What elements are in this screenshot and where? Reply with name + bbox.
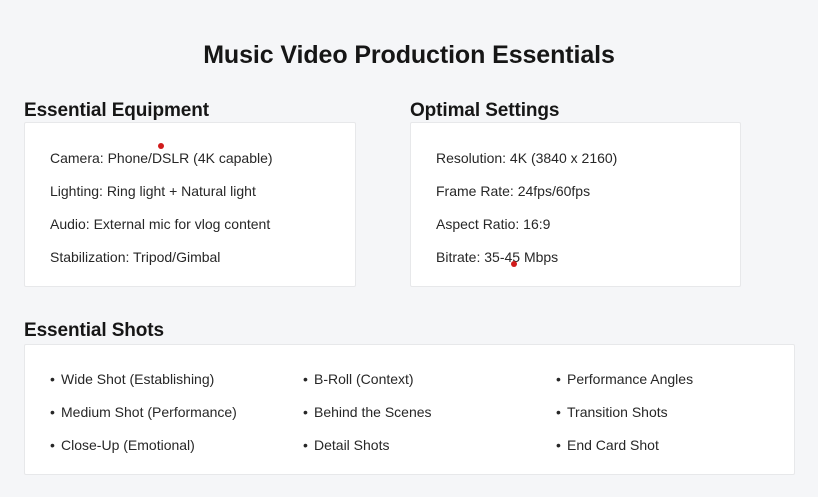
list-item: Audio: External mic for vlog content: [50, 208, 273, 241]
shots-column-1: •Wide Shot (Establishing) •Medium Shot (…: [50, 363, 237, 462]
shots-column-3: •Performance Angles •Transition Shots •E…: [556, 363, 693, 462]
list-item-label: Transition Shots: [567, 404, 668, 420]
shots-grid: •Wide Shot (Establishing) •Medium Shot (…: [25, 363, 796, 463]
list-item-label: Close-Up (Emotional): [61, 437, 195, 453]
card-equipment: Camera: Phone/DSLR (4K capable) Lighting…: [24, 122, 356, 287]
list-item: •Transition Shots: [556, 396, 693, 429]
equipment-list: Camera: Phone/DSLR (4K capable) Lighting…: [50, 142, 273, 274]
list-item-label: Behind the Scenes: [314, 404, 432, 420]
shots-column-2: •B-Roll (Context) •Behind the Scenes •De…: [303, 363, 432, 462]
list-item: •Medium Shot (Performance): [50, 396, 237, 429]
list-item-label: Detail Shots: [314, 437, 389, 453]
list-item: •Behind the Scenes: [303, 396, 432, 429]
list-item: •Wide Shot (Establishing): [50, 363, 237, 396]
list-item: •End Card Shot: [556, 429, 693, 462]
bullet-icon: •: [50, 396, 61, 429]
list-item: •Close-Up (Emotional): [50, 429, 237, 462]
page-title: Music Video Production Essentials: [0, 41, 818, 70]
list-item-label: Medium Shot (Performance): [61, 404, 237, 420]
bullet-icon: •: [303, 396, 314, 429]
list-item-label: Performance Angles: [567, 371, 693, 387]
settings-list: Resolution: 4K (3840 x 2160) Frame Rate:…: [436, 142, 617, 274]
bullet-icon: •: [50, 429, 61, 462]
bullet-icon: •: [50, 363, 61, 396]
list-item-label: B-Roll (Context): [314, 371, 414, 387]
list-item-label: End Card Shot: [567, 437, 659, 453]
section-heading-shots: Essential Shots: [24, 320, 164, 342]
section-heading-equipment: Essential Equipment: [24, 100, 209, 122]
bullet-icon: •: [303, 363, 314, 396]
bullet-icon: •: [556, 429, 567, 462]
bullet-icon: •: [556, 363, 567, 396]
list-item: Bitrate: 35-45 Mbps: [436, 241, 617, 274]
list-item: •Detail Shots: [303, 429, 432, 462]
card-settings: Resolution: 4K (3840 x 2160) Frame Rate:…: [410, 122, 741, 287]
list-item: Camera: Phone/DSLR (4K capable): [50, 142, 273, 175]
list-item: Frame Rate: 24fps/60fps: [436, 175, 617, 208]
list-item: Resolution: 4K (3840 x 2160): [436, 142, 617, 175]
card-shots: •Wide Shot (Establishing) •Medium Shot (…: [24, 344, 795, 475]
page-root: Music Video Production Essentials Essent…: [0, 0, 818, 497]
bullet-icon: •: [303, 429, 314, 462]
bullet-icon: •: [556, 396, 567, 429]
list-item: Aspect Ratio: 16:9: [436, 208, 617, 241]
list-item: Lighting: Ring light + Natural light: [50, 175, 273, 208]
list-item: •B-Roll (Context): [303, 363, 432, 396]
list-item: •Performance Angles: [556, 363, 693, 396]
list-item-label: Wide Shot (Establishing): [61, 371, 214, 387]
list-item: Stabilization: Tripod/Gimbal: [50, 241, 273, 274]
section-heading-settings: Optimal Settings: [410, 100, 559, 122]
